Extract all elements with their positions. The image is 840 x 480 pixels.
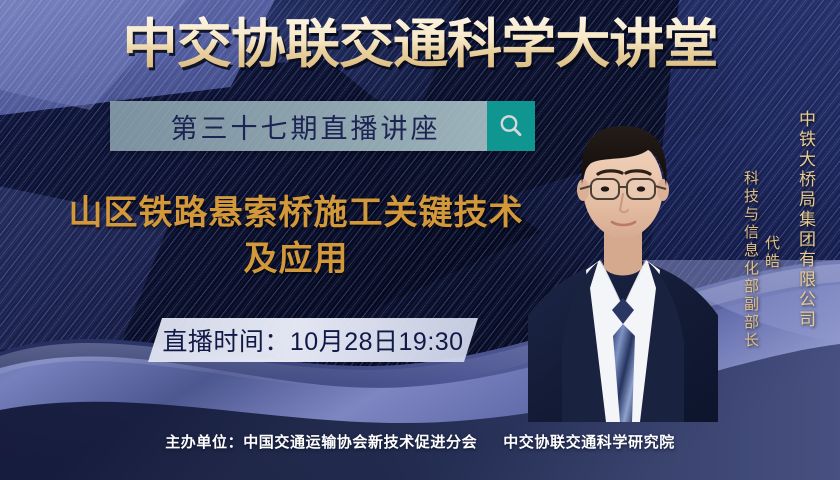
search-icon (497, 112, 525, 140)
episode-label: 第三十七期直播讲座 (110, 101, 487, 151)
lecture-title: 山区铁路悬索桥施工关键技术 及应用 (26, 190, 566, 282)
live-time-label: 直播时间：10月28日19:30 (162, 322, 463, 358)
episode-bar: 第三十七期直播讲座 (110, 101, 535, 151)
webinar-poster: 中交协联交通科学大讲堂 第三十七期直播讲座 山区铁路悬索桥施工关键技术 及应用 … (0, 0, 840, 480)
speaker-info: 代皓 科技与信息化部副部长 (740, 110, 782, 410)
speaker-company: 中铁大桥局集团有限公司 (793, 110, 818, 330)
search-button[interactable] (487, 101, 535, 151)
lecture-title-line2: 及应用 (26, 236, 566, 282)
lecture-title-line1: 山区铁路悬索桥施工关键技术 (69, 194, 524, 232)
speaker-name: 代皓 (761, 235, 782, 271)
live-time-banner: 直播时间：10月28日19:30 (148, 318, 478, 362)
footer-organizer-label: 主办单位：中国交通运输协会新技术促进分会 (165, 434, 477, 451)
footer-organizers: 主办单位：中国交通运输协会新技术促进分会中交协联交通科学研究院 (0, 431, 840, 452)
page-title: 中交协联交通科学大讲堂 (0, 14, 840, 76)
footer-institute: 中交协联交通科学研究院 (503, 434, 675, 451)
speaker-title: 科技与信息化部副部长 (740, 170, 761, 350)
